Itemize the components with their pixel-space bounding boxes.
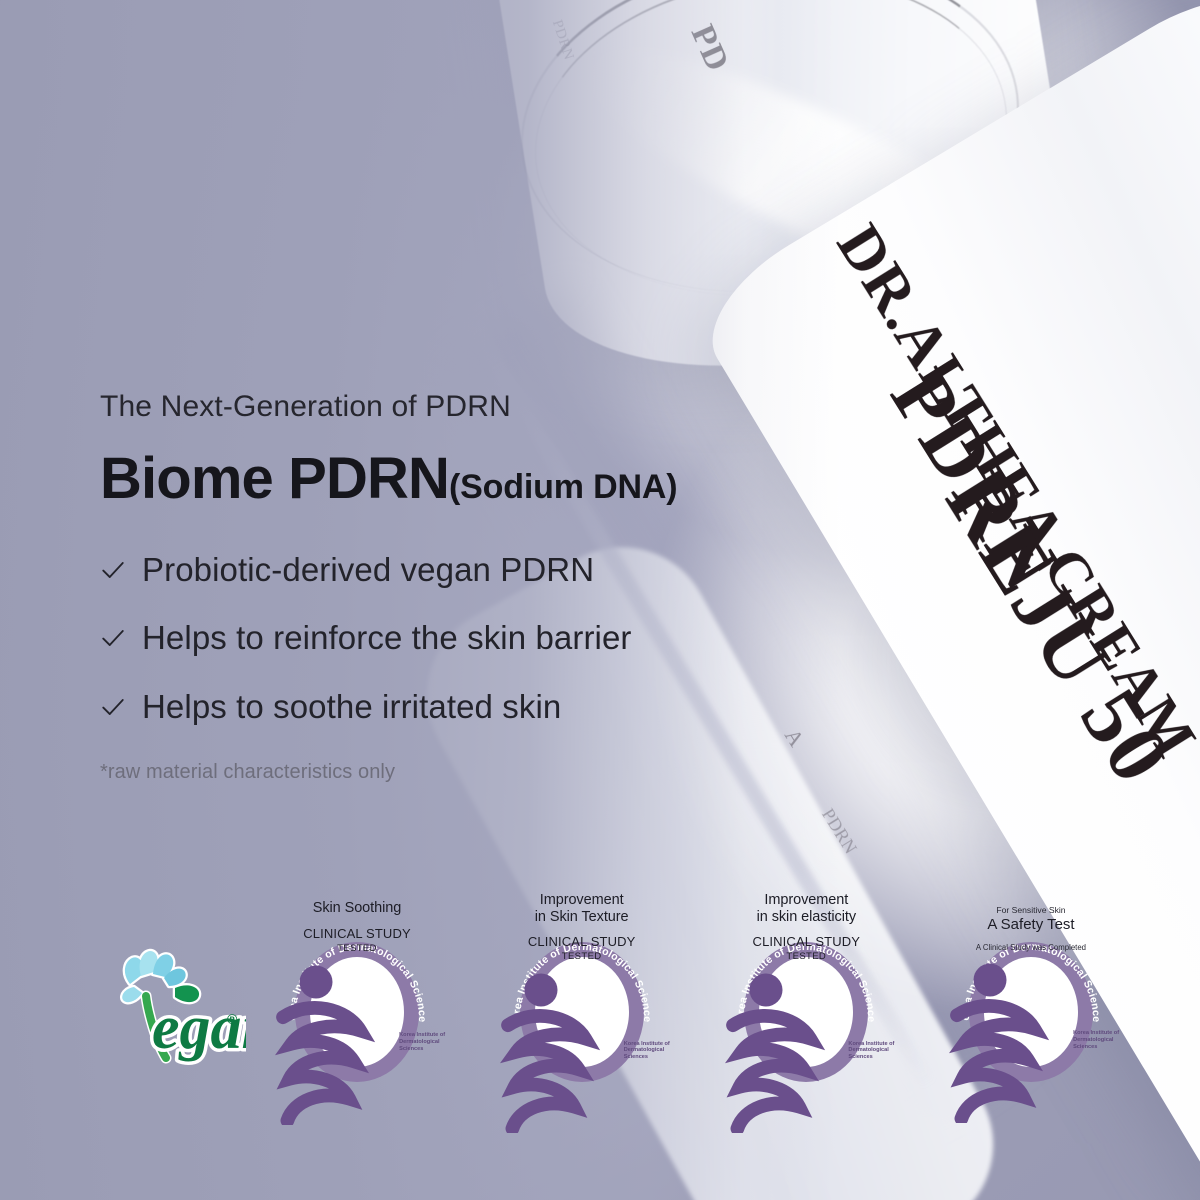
badge-ring-graphic: Korea Institute of Dermatological Scienc… <box>727 930 885 1095</box>
page-title: Biome PDRN(Sodium DNA) <box>100 450 720 508</box>
check-icon <box>100 557 126 583</box>
list-item: Helps to soothe irritated skin <box>100 689 720 725</box>
headline-main: Biome PDRN <box>100 446 449 511</box>
check-icon <box>100 625 126 651</box>
benefit-text: Helps to soothe irritated skin <box>142 689 561 725</box>
badge-ring-graphic: Korea Institute of Dermatological Scienc… <box>278 930 436 1095</box>
vegan-certification-logo: egan egan ® <box>96 938 246 1068</box>
vegan-logo-graphic: egan egan ® <box>96 938 246 1068</box>
copy-block: The Next-Generation of PDRN Biome PDRN(S… <box>100 392 720 784</box>
benefit-text: Helps to reinforce the skin barrier <box>142 620 632 656</box>
footnote-text: *raw material characteristics only <box>100 761 720 784</box>
vegan-wordmark: egan <box>152 994 246 1062</box>
promo-banner: PDRN PD DR.ALTHEA PDRN REJU 50 CREAM A P… <box>0 0 1200 1200</box>
benefit-text: Probiotic-derived vegan PDRN <box>142 552 594 588</box>
badge-ring-graphic: Korea Institute of Dermatological Scienc… <box>952 930 1110 1095</box>
badge-skin-soothing: Korea Institute of Dermatological Scienc… <box>278 930 436 1095</box>
eyebrow-text: The Next-Generation of PDRN <box>100 392 720 422</box>
list-item: Helps to reinforce the skin barrier <box>100 620 720 656</box>
badge-ring-graphic: Korea Institute of Dermatological Scienc… <box>503 930 661 1095</box>
headline-subscript: (Sodium DNA) <box>449 468 677 506</box>
check-icon <box>100 694 126 720</box>
list-item: Probiotic-derived vegan PDRN <box>100 552 720 588</box>
badge-skin-texture: Korea Institute of Dermatological Scienc… <box>503 930 661 1095</box>
badge-safety-test: Korea Institute of Dermatological Scienc… <box>952 930 1110 1095</box>
benefit-list: Probiotic-derived vegan PDRN Helps to re… <box>100 552 720 725</box>
certification-badges: Korea Institute of Dermatological Scienc… <box>278 930 1110 1098</box>
badge-skin-elasticity: Korea Institute of Dermatological Scienc… <box>727 930 885 1095</box>
registered-mark: ® <box>227 1011 238 1027</box>
